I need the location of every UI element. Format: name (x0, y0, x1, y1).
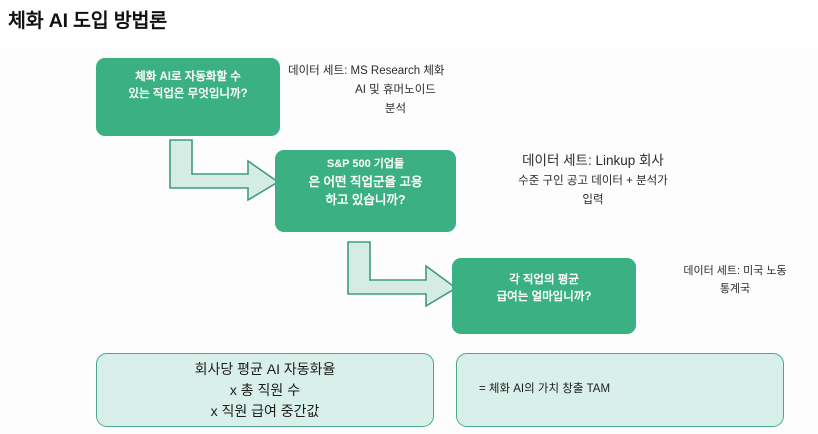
question-box-3-line-2: 급여는 얼마입니까? (497, 289, 592, 306)
dataset-caption-2-line-1: 데이터 세트: Linkup 회사 (478, 150, 708, 172)
question-box-2[interactable]: S&P 500 기업들 은 어떤 직업군을 고용 하고 있습니까? (275, 150, 456, 232)
dataset-caption-2-line-3: 입력 (478, 191, 708, 210)
formula-left-line-2: x 총 직원 수 (230, 380, 300, 401)
question-box-1-line-2: 있는 직업은 무엇입니까? (128, 86, 247, 103)
dataset-caption-1-line-1: 데이터 세트: MS Research 체화 (288, 62, 503, 81)
question-box-2-line-1: S&P 500 기업들 (327, 157, 404, 173)
dataset-caption-3-line-1: 데이터 세트: 미국 노동 (660, 262, 810, 280)
page-title: 체화 AI 도입 방법론 (8, 4, 167, 33)
dataset-caption-2-line-2: 수준 구인 공고 데이터 + 분석가 (478, 172, 708, 191)
dataset-caption-3-line-2: 통계국 (660, 280, 810, 298)
dataset-caption-1: 데이터 세트: MS Research 체화 AI 및 휴머노이드 분석 (288, 62, 503, 119)
question-box-3-line-1: 각 직업의 평균 (509, 272, 579, 289)
question-box-1-line-1: 체화 AI로 자동화할 수 (135, 69, 241, 86)
question-box-2-line-2: 은 어떤 직업군을 고용 (309, 173, 423, 191)
arrow-1-icon (162, 136, 286, 204)
slide-canvas: 체화 AI 도입 방법론 체화 AI로 자동화할 수 있는 직업은 무엇입니까?… (0, 0, 818, 434)
formula-box-left: 회사당 평균 AI 자동화율 x 총 직원 수 x 직원 급여 중간값 (96, 353, 434, 427)
formula-box-right: = 체화 AI의 가치 창출 TAM (456, 353, 784, 427)
arrow-2-icon (340, 238, 464, 310)
formula-left-line-1: 회사당 평균 AI 자동화율 (195, 359, 336, 380)
dataset-caption-3: 데이터 세트: 미국 노동 통계국 (660, 262, 810, 298)
question-box-2-line-3: 하고 있습니까? (325, 191, 405, 209)
dataset-caption-1-line-3: 분석 (288, 100, 503, 119)
formula-left-line-3: x 직원 급여 중간값 (211, 401, 320, 422)
question-box-1[interactable]: 체화 AI로 자동화할 수 있는 직업은 무엇입니까? (96, 58, 280, 136)
question-box-3[interactable]: 각 직업의 평균 급여는 얼마입니까? (452, 258, 636, 334)
formula-right-line-1: = 체화 AI의 가치 창출 TAM (479, 381, 610, 398)
dataset-caption-2: 데이터 세트: Linkup 회사 수준 구인 공고 데이터 + 분석가 입력 (478, 150, 708, 210)
dataset-caption-1-line-2: AI 및 휴머노이드 (288, 81, 503, 100)
